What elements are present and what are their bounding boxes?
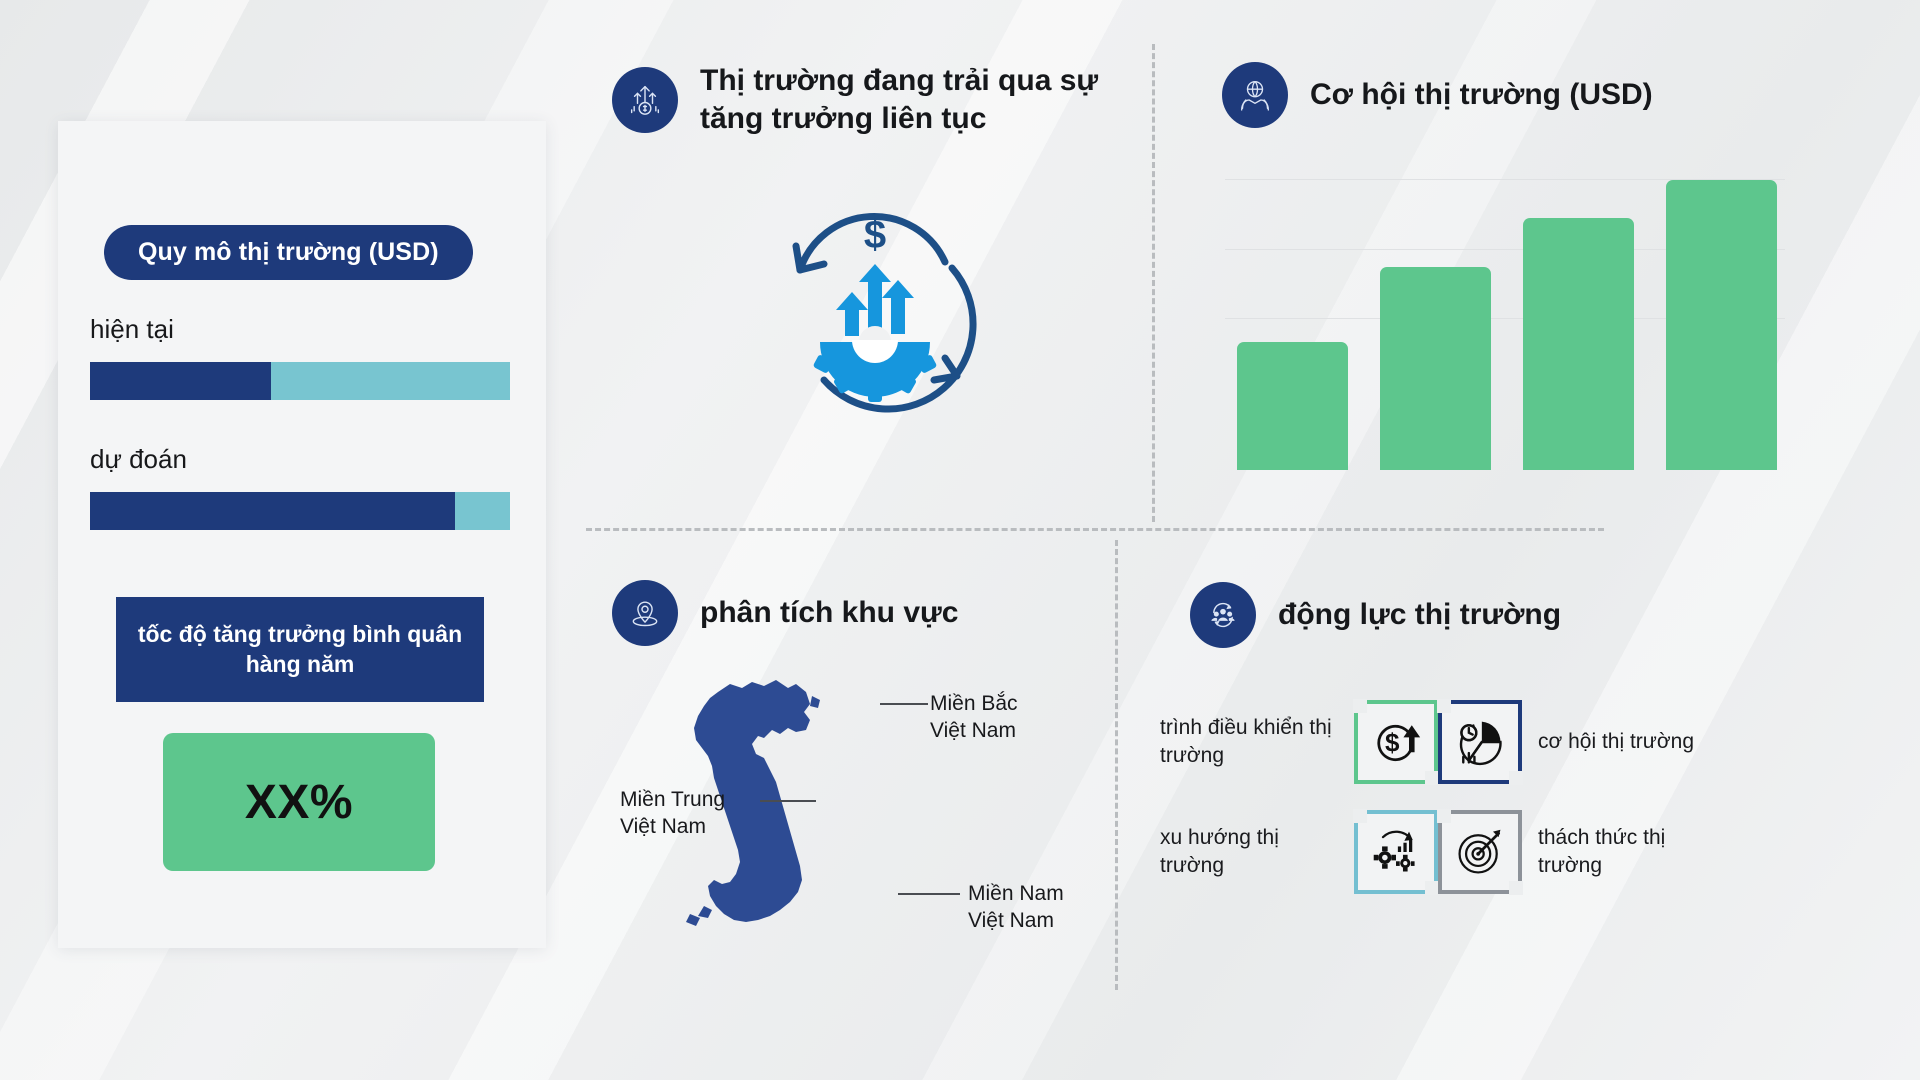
opportunity-bar-chart [1225, 170, 1785, 470]
driver-label-market-challenges: thách thức thị trường [1522, 824, 1720, 880]
people-cycle-icon [1190, 582, 1256, 648]
market-size-pill-title: Quy mô thị trường (USD) [104, 225, 473, 280]
region-section-title: phân tích khu vực [700, 594, 958, 632]
target-dartboard-icon [1438, 810, 1522, 894]
globe-in-hands-icon [1222, 62, 1288, 128]
divider-vertical-top [1152, 44, 1155, 522]
map-label-central-line2: Việt Nam [620, 813, 725, 840]
map-leader-central [760, 800, 816, 802]
chart-bar [1380, 267, 1491, 470]
drivers-section-header: động lực thị trường [1190, 582, 1561, 648]
drivers-row-bottom: xu hướng thị trường [1160, 810, 1860, 894]
driver-item-market-trends[interactable]: xu hướng thị trường [1160, 810, 1438, 894]
map-label-south: Miền Nam Việt Nam [968, 880, 1064, 935]
growth-section-title: Thị trường đang trải qua sự tăng trưởng … [700, 62, 1120, 139]
chart-bar [1237, 342, 1348, 470]
divider-horizontal [586, 528, 1604, 531]
dollar-circle-up-arrow-icon: $ [1354, 700, 1438, 784]
map-label-south-line2: Việt Nam [968, 907, 1064, 934]
driver-label-market-opportunities: cơ hội thị trường [1522, 728, 1720, 756]
growth-section-header: Thị trường đang trải qua sự tăng trưởng … [612, 62, 1132, 139]
map-leader-north [880, 703, 928, 705]
pie-chart-clock-icon [1438, 700, 1522, 784]
map-label-central: Miền Trung Việt Nam [620, 786, 725, 841]
map-label-north-line1: Miền Bắc [930, 690, 1018, 717]
svg-text:$: $ [864, 213, 886, 257]
driver-label-market-trends: xu hướng thị trường [1160, 824, 1354, 880]
driver-label-market-drivers: trình điều khiển thị trường [1160, 714, 1354, 770]
driver-item-market-drivers[interactable]: trình điều khiển thị trường $ [1160, 700, 1438, 784]
chart-bar [1523, 218, 1634, 470]
infographic-canvas: Quy mô thị trường (USD) hiện tại dự đoán… [0, 0, 1920, 1080]
location-pin-icon [612, 580, 678, 646]
svg-text:$: $ [1385, 727, 1400, 757]
gears-analytics-icon [1354, 810, 1438, 894]
driver-item-market-opportunities[interactable]: cơ hội thị trường [1438, 700, 1720, 784]
chart-bars [1237, 180, 1777, 470]
bar-fill-current [90, 362, 271, 400]
circular-arrows-gear-dollar-arrows-icon: $ [740, 190, 1010, 430]
opportunity-section-title: Cơ hội thị trường (USD) [1310, 76, 1653, 114]
bar-fill-forecast [90, 492, 455, 530]
map-label-central-line1: Miền Trung [620, 786, 725, 813]
bar-track-forecast [90, 492, 510, 530]
money-growth-arrows-icon [612, 67, 678, 133]
drivers-row-top: trình điều khiển thị trường $ [1160, 700, 1860, 784]
bar-label-forecast: dự đoán [90, 444, 187, 475]
drivers-section-title: động lực thị trường [1278, 596, 1561, 634]
cagr-value-text: XX% [245, 775, 353, 830]
cagr-value-box: XX% [163, 733, 435, 871]
opportunity-section-header: Cơ hội thị trường (USD) [1222, 62, 1653, 128]
map-label-north-line2: Việt Nam [930, 717, 1018, 744]
map-label-north: Miền Bắc Việt Nam [930, 690, 1018, 745]
map-label-south-line1: Miền Nam [968, 880, 1064, 907]
map-leader-south [898, 893, 960, 895]
bar-track-current [90, 362, 510, 400]
chart-bar [1666, 180, 1777, 470]
drivers-grid: trình điều khiển thị trường $ [1160, 700, 1860, 920]
cagr-label-box: tốc độ tăng trưởng bình quân hàng năm [116, 597, 484, 702]
region-section-header: phân tích khu vực [612, 580, 958, 646]
bar-label-current: hiện tại [90, 314, 174, 345]
driver-item-market-challenges[interactable]: thách thức thị trường [1438, 810, 1720, 894]
